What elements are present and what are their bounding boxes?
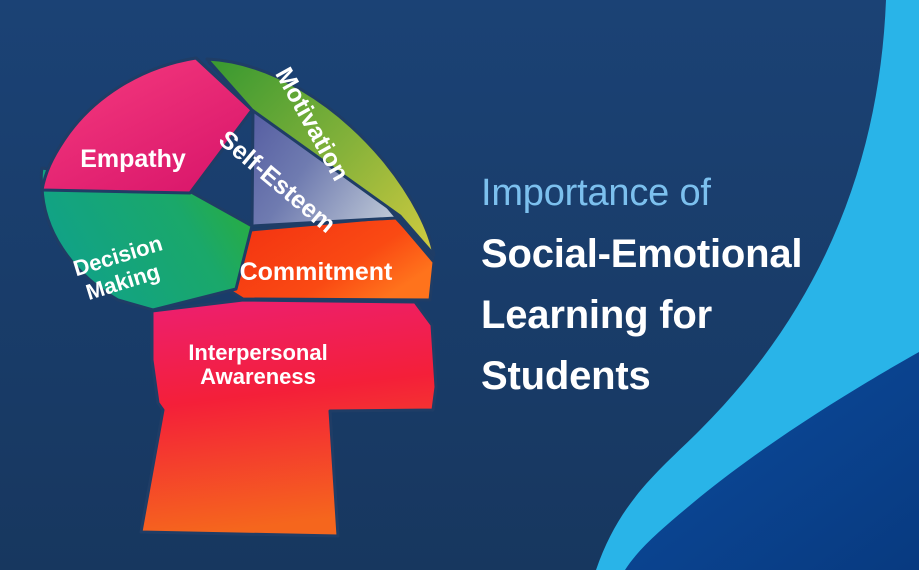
slide-canvas: Empathy Motivation Self-Esteem Decision …	[0, 0, 919, 570]
title-block: Importance of Social-Emotional Learning …	[481, 163, 881, 407]
segment-interpersonal-awareness[interactable]	[141, 300, 436, 536]
title-line-2: Social-Emotional	[481, 224, 881, 285]
label-commitment: Commitment	[240, 258, 393, 286]
title-line-3: Learning for	[481, 285, 881, 346]
label-empathy: Empathy	[80, 145, 186, 173]
label-interpersonal-awareness-line1: Interpersonal	[188, 340, 327, 365]
title-line-1: Importance of	[481, 163, 881, 224]
label-interpersonal-awareness-line2: Awareness	[200, 364, 316, 389]
title-line-4: Students	[481, 346, 881, 407]
